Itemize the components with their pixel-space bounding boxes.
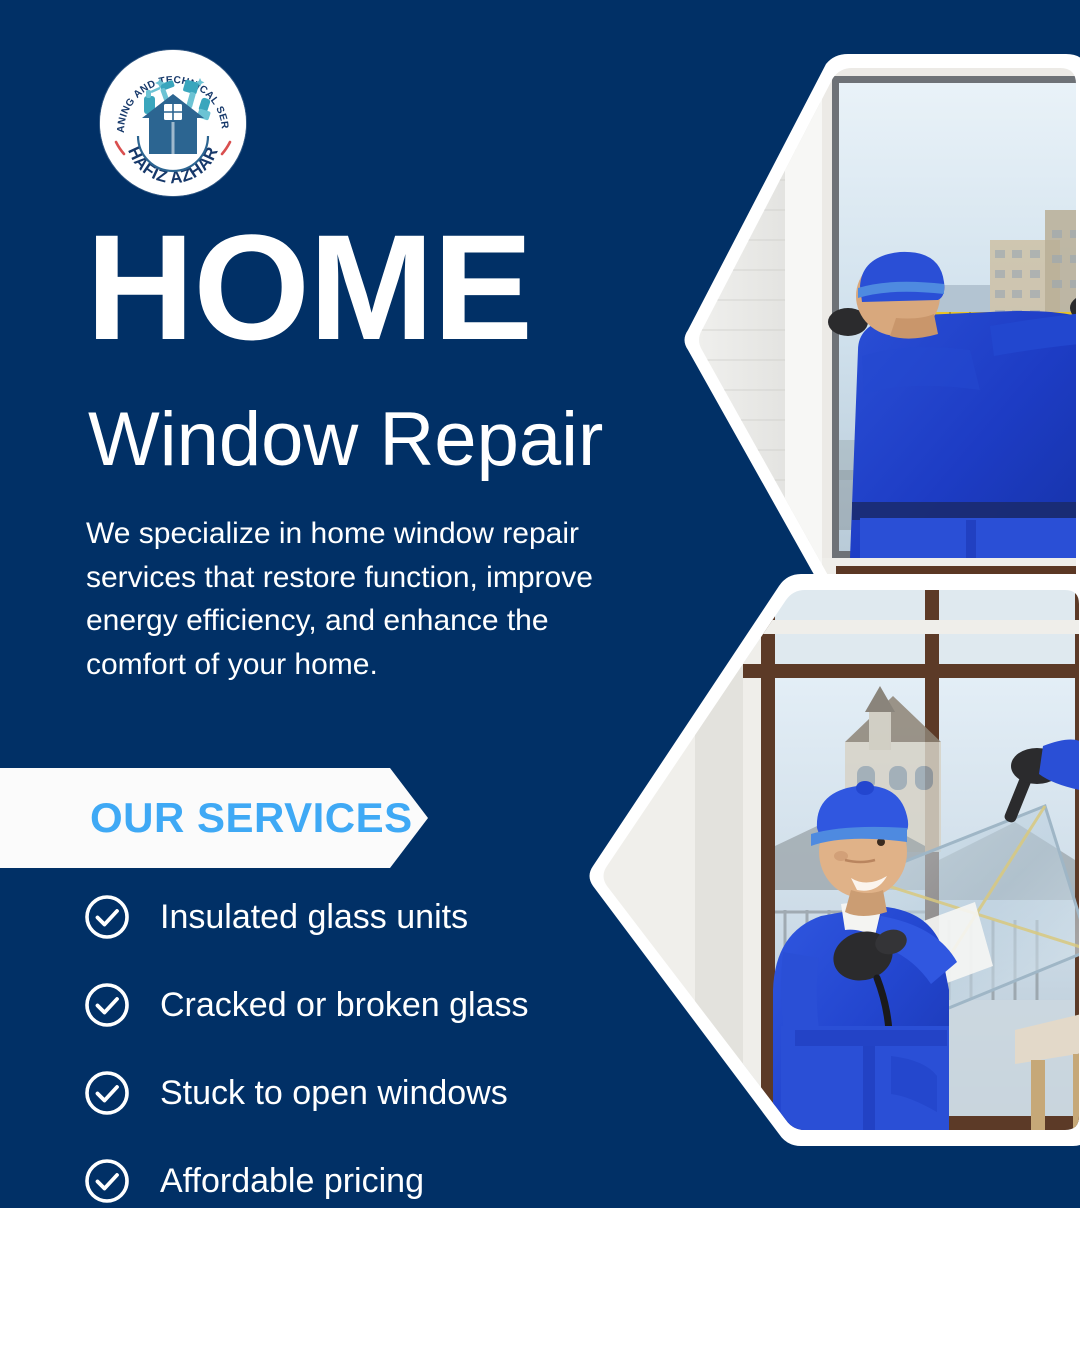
list-item: Affordable pricing [84,1148,604,1214]
check-circle-icon [84,982,130,1028]
services-list: Insulated glass units Cracked or broken … [84,884,604,1236]
worker-measuring-window-photo [590,50,1080,610]
service-label: Cracked or broken glass [160,988,529,1022]
service-label: Affordable pricing [160,1164,424,1198]
services-banner-label: OUR SERVICES [90,794,413,842]
list-item: Insulated glass units [84,884,604,950]
service-label: Stuck to open windows [160,1076,508,1110]
list-item: Stuck to open windows [84,1060,604,1126]
poster-canvas: CLEANING AND TECHNICAL SERVICE HAFIZ AZH… [0,0,1080,1350]
service-label: Insulated glass units [160,900,468,934]
services-banner: OUR SERVICES [0,768,458,868]
photo-top-scene [670,60,1080,610]
hero-description: We specialize in home window repair serv… [86,512,631,686]
page-subtitle: Window Repair [88,400,603,480]
check-circle-icon [84,894,130,940]
brand-logo: CLEANING AND TECHNICAL SERVICE HAFIZ AZH… [100,50,246,196]
brand-logo-svg: CLEANING AND TECHNICAL SERVICE HAFIZ AZH… [100,50,246,196]
list-item: Cracked or broken glass [84,972,604,1038]
footer-bar: BOOK NOW +971 567525108 www.hafizazhar.a… [0,1208,1080,1350]
photo-top-svg [590,50,1080,610]
check-circle-icon [84,1158,130,1204]
check-circle-icon [84,1070,130,1116]
page-title: HOME [86,216,532,359]
photo-bottom-scene [585,574,1080,1154]
